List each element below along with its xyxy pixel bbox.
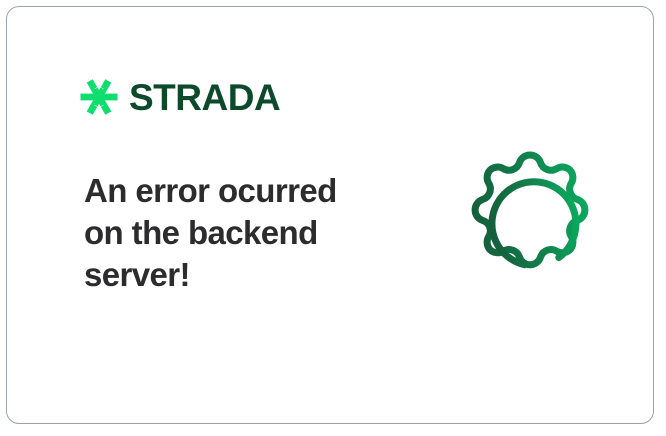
error-card: STRADA An error ocurred on the backend s…	[6, 6, 654, 424]
error-message-line: server!	[84, 254, 384, 296]
brand-wordmark: STRADA	[129, 79, 280, 116]
strada-asterisk-icon	[79, 77, 119, 117]
error-message: An error ocurred on the backend server!	[84, 170, 384, 296]
gear-cog-icon	[450, 147, 610, 307]
error-message-line: An error ocurred	[84, 170, 384, 212]
brand-logo: STRADA	[79, 75, 280, 119]
error-screen: STRADA An error ocurred on the backend s…	[0, 0, 666, 436]
error-message-line: on the backend	[84, 212, 384, 254]
